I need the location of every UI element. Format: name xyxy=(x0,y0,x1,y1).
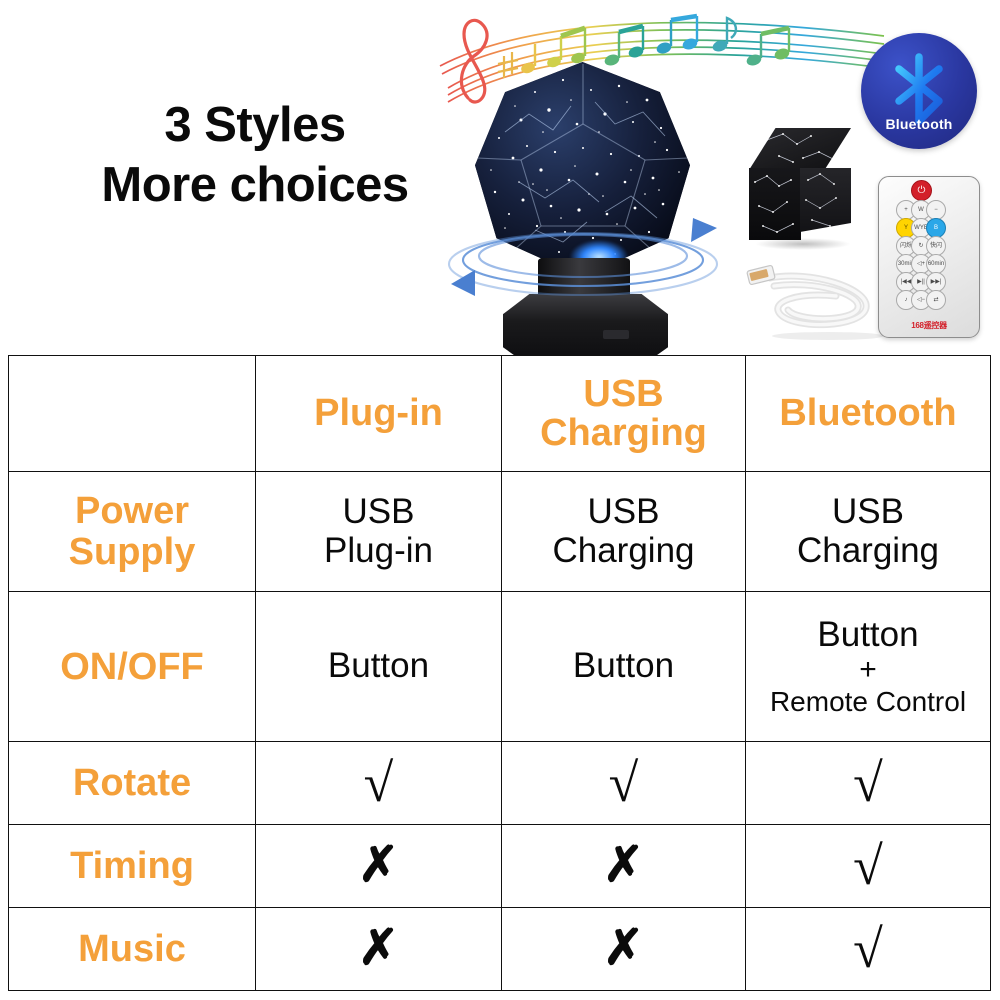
product-comparison-page: 3 Styles More choices xyxy=(0,0,1000,1000)
gift-box-left-face xyxy=(749,168,801,240)
remote-button-label: ↻ xyxy=(918,243,923,249)
column-header-plug-in: Plug-in xyxy=(256,356,502,472)
column-header-line: Charging xyxy=(506,414,741,453)
gift-box xyxy=(735,128,865,248)
remote-button-label: W xyxy=(918,207,924,213)
remote-button-label: ◁− xyxy=(917,297,925,303)
remote-blue-button[interactable]: B xyxy=(926,218,946,238)
column-header-usb-charging: USBCharging xyxy=(502,356,746,472)
remote-button-label: 快闪 xyxy=(930,243,942,249)
remote-fast-button[interactable]: 快闪 xyxy=(926,236,946,256)
cell-timing-usb-charging: ✗ xyxy=(502,824,746,907)
remote-button-label: − xyxy=(934,207,938,213)
remote-button-label: ⇄ xyxy=(933,297,938,303)
cell-text-line: Charging xyxy=(506,532,741,571)
remote-button-label: ♪ xyxy=(905,297,908,303)
checkmark-icon: √ xyxy=(506,756,741,810)
table-row: Timing✗✗√ xyxy=(9,824,991,907)
row-label-line: Music xyxy=(13,929,251,969)
remote-power-button[interactable]: ⏻ xyxy=(911,180,932,201)
cell-text-line: Button xyxy=(750,616,986,655)
gift-box-top-face xyxy=(749,128,851,170)
column-header-bluetooth: Bluetooth xyxy=(746,356,991,472)
column-header-line: Plug-in xyxy=(260,394,497,433)
cell-text-line: USB xyxy=(260,493,497,532)
comparison-table: Plug-inUSBChargingBluetoothPowerSupplyUS… xyxy=(8,355,991,991)
row-label-rotate: Rotate xyxy=(9,741,256,824)
cell-rotate-usb-charging: √ xyxy=(502,741,746,824)
remote-timer-60min-button[interactable]: 60min xyxy=(926,254,946,274)
table-row: Music✗✗√ xyxy=(9,907,991,990)
column-header-line: USB xyxy=(506,375,741,414)
cell-music-usb-charging: ✗ xyxy=(502,907,746,990)
cell-text-line: USB xyxy=(506,493,741,532)
rotation-arrows-graphic xyxy=(425,212,741,308)
table-header-row: Plug-inUSBChargingBluetooth xyxy=(9,356,991,472)
cell-text-line: Button xyxy=(506,647,741,686)
checkmark-icon: √ xyxy=(750,922,986,976)
cell-power-supply-plug-in: USBPlug-in xyxy=(256,472,502,592)
cell-text-line: Button xyxy=(260,647,497,686)
remote-button-label: ▶|| xyxy=(917,279,925,285)
row-label-line: Rotate xyxy=(13,763,251,803)
row-label-line: Supply xyxy=(13,532,251,572)
cell-on-off-usb-charging: Button xyxy=(502,592,746,742)
headline-line-2: More choices xyxy=(55,156,455,216)
constellation-pattern-top xyxy=(749,128,851,170)
remote-button-label: Y xyxy=(904,225,908,231)
cell-rotate-bluetooth: √ xyxy=(746,741,991,824)
headline-line-1: 3 Styles xyxy=(164,98,345,152)
table-row: PowerSupplyUSBPlug-inUSBChargingUSBCharg… xyxy=(9,472,991,592)
cell-on-off-bluetooth: Button+Remote Control xyxy=(746,592,991,742)
cell-timing-plug-in: ✗ xyxy=(256,824,502,907)
gift-box-right-face xyxy=(800,168,851,232)
remote-brightness-down-button[interactable]: − xyxy=(926,200,946,220)
remote-loop-button[interactable]: ⇄ xyxy=(926,290,946,310)
projector-port xyxy=(603,330,629,339)
checkmark-icon: √ xyxy=(750,839,986,893)
remote-next-track-button[interactable]: ▶▶| xyxy=(926,272,946,292)
cell-music-plug-in: ✗ xyxy=(256,907,502,990)
row-label-music: Music xyxy=(9,907,256,990)
bluetooth-badge: Bluetooth xyxy=(861,33,977,149)
row-label-line: Timing xyxy=(13,846,251,886)
remote-button-label: |◀◀ xyxy=(901,279,912,285)
cell-power-supply-usb-charging: USBCharging xyxy=(502,472,746,592)
usb-connector xyxy=(747,265,776,285)
cell-text-line: USB xyxy=(750,493,986,532)
remote-brand-label: 168遥控器 xyxy=(879,320,979,331)
cell-rotate-plug-in: √ xyxy=(256,741,502,824)
constellation-pattern-right xyxy=(800,168,851,232)
remote-button-label: ▶▶| xyxy=(931,279,942,285)
row-label-power-supply: PowerSupply xyxy=(9,472,256,592)
cell-text-line: Charging xyxy=(750,532,986,571)
cell-plus-separator: + xyxy=(750,654,986,686)
cross-icon: ✗ xyxy=(260,924,497,973)
cell-on-off-plug-in: Button xyxy=(256,592,502,742)
checkmark-icon: √ xyxy=(260,756,497,810)
row-label-on-off: ON/OFF xyxy=(9,592,256,742)
cross-icon: ✗ xyxy=(260,841,497,890)
table-corner-cell xyxy=(9,356,256,472)
cell-text-line: Plug-in xyxy=(260,532,497,571)
remote-button-label: B xyxy=(934,225,938,231)
remote-control: ⏻+W−YWYBB闪烁↻快闪30min◁+60min|◀◀▶||▶▶|♪◁−⇄ … xyxy=(878,176,980,338)
cell-power-supply-bluetooth: USBCharging xyxy=(746,472,991,592)
page-headline: 3 Styles More choices xyxy=(55,96,455,216)
star-projector-lamp xyxy=(455,62,710,362)
table-row: Rotate√√√ xyxy=(9,741,991,824)
row-label-line: Power xyxy=(13,491,251,531)
remote-button-label: ◁+ xyxy=(917,261,925,267)
bluetooth-badge-label: Bluetooth xyxy=(861,116,977,132)
checkmark-icon: √ xyxy=(750,756,986,810)
row-label-line: ON/OFF xyxy=(13,647,251,687)
cross-icon: ✗ xyxy=(506,841,741,890)
cross-icon: ✗ xyxy=(506,924,741,973)
column-header-line: Bluetooth xyxy=(750,394,986,433)
cell-timing-bluetooth: √ xyxy=(746,824,991,907)
remote-button-label: ⏻ xyxy=(918,186,926,196)
remote-button-label: 60min xyxy=(928,261,944,267)
row-label-timing: Timing xyxy=(9,824,256,907)
constellation-pattern-left xyxy=(749,168,801,240)
comparison-table-wrapper: Plug-inUSBChargingBluetoothPowerSupplyUS… xyxy=(8,355,990,991)
table-row: ON/OFFButtonButtonButton+Remote Control xyxy=(9,592,991,742)
cell-music-bluetooth: √ xyxy=(746,907,991,990)
remote-button-label: + xyxy=(904,207,908,213)
cell-text-line: Remote Control xyxy=(750,686,986,717)
hero-section: 3 Styles More choices xyxy=(0,0,1000,355)
usb-cable xyxy=(740,248,900,340)
